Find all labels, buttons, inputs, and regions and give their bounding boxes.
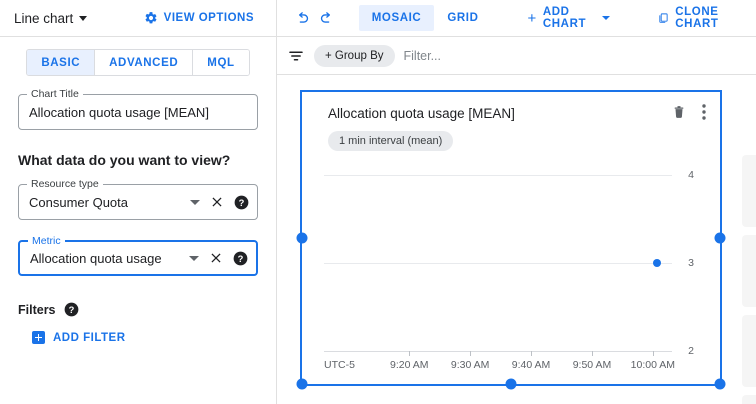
tab-advanced-label: ADVANCED [109, 57, 178, 69]
y-tick-2: 2 [688, 345, 694, 357]
tab-basic-label: BASIC [41, 57, 80, 69]
layout-mode-toggle: MOSAIC GRID [359, 5, 492, 31]
trash-icon[interactable] [672, 104, 686, 120]
x-tickmark-4 [653, 351, 654, 356]
chart-config-panel: Line chart VIEW OPTIONS BASIC ADVANCED [0, 0, 277, 404]
add-icon [32, 331, 45, 344]
tab-mql[interactable]: MQL [193, 50, 248, 75]
offscreen-chart-card[interactable] [742, 315, 756, 387]
add-filter-label: ADD FILTER [53, 332, 126, 344]
x-tickmark-0 [409, 351, 410, 356]
redo-icon [318, 10, 335, 27]
clone-chart-button[interactable]: CLONE CHART [648, 4, 756, 32]
x-tick-label-1: 9:30 AM [451, 359, 490, 371]
add-chart-label: ADD CHART [543, 6, 595, 30]
svg-text:?: ? [68, 305, 74, 315]
kebab-menu-icon[interactable] [702, 104, 706, 120]
metric-field[interactable]: Metric Allocation quota usage ? [18, 240, 258, 276]
data-point [653, 259, 661, 267]
canvas-toolbar: MOSAIC GRID + ADD CHART CLONE CHART [277, 0, 756, 36]
y-tick-3: 3 [688, 257, 694, 269]
filters-heading: Filters [18, 303, 56, 317]
svg-text:?: ? [239, 197, 245, 207]
config-form: Chart Title Allocation quota usage [MEAN… [0, 94, 276, 344]
x-tick-timezone: UTC-5 [324, 359, 355, 371]
clone-chart-label: CLONE CHART [675, 6, 746, 30]
offscreen-chart-cards [742, 155, 756, 404]
x-tick-label-0: 9:20 AM [390, 359, 429, 371]
chart-card-header: Allocation quota usage [MEAN] [302, 92, 720, 121]
metric-clear-icon[interactable] [209, 251, 223, 265]
resource-type-label: Resource type [27, 178, 103, 190]
chart-canvas-panel: MOSAIC GRID + ADD CHART CLONE CHART [277, 0, 756, 404]
resource-type-field[interactable]: Resource type Consumer Quota ? [18, 184, 258, 220]
tab-advanced[interactable]: ADVANCED [95, 50, 193, 75]
add-chart-button[interactable]: + ADD CHART [517, 4, 620, 32]
filters-heading-row: Filters ? [18, 302, 258, 317]
metric-chevron-down-icon[interactable] [189, 256, 199, 261]
offscreen-chart-card[interactable] [742, 395, 756, 404]
tab-basic[interactable]: BASIC [27, 50, 95, 75]
resource-type-value: Consumer Quota [29, 195, 186, 210]
filter-input[interactable]: Filter... [404, 49, 442, 63]
resize-handle-bottom-left[interactable] [297, 379, 308, 390]
chart-title-label: Chart Title [27, 88, 83, 100]
group-by-label: + Group By [325, 50, 384, 62]
resize-handle-bottom-right[interactable] [715, 379, 726, 390]
chart-canvas: Allocation quota usage [MEAN] [277, 75, 756, 401]
x-tickmark-2 [531, 351, 532, 356]
chevron-down-icon [79, 16, 87, 21]
undo-button[interactable] [291, 3, 315, 33]
x-tick-label-3: 9:50 AM [573, 359, 612, 371]
filter-list-icon[interactable] [287, 47, 305, 65]
interval-chip: 1 min interval (mean) [328, 131, 453, 151]
resize-handle-bottom[interactable] [506, 379, 517, 390]
layout-mode-grid-label: GRID [447, 12, 478, 24]
filter-bar: + Group By Filter... [277, 37, 756, 74]
resource-type-clear-icon[interactable] [210, 195, 224, 209]
metric-label: Metric [28, 235, 65, 247]
resource-type-help-icon[interactable]: ? [234, 195, 249, 210]
redo-button[interactable] [315, 3, 339, 33]
metric-value: Allocation quota usage [30, 251, 185, 266]
data-question-heading: What data do you want to view? [18, 152, 258, 168]
x-tickmark-3 [592, 351, 593, 356]
plus-icon: + [527, 11, 536, 26]
chart-type-dropdown[interactable]: Line chart [14, 11, 87, 26]
chart-card[interactable]: Allocation quota usage [MEAN] [300, 90, 722, 386]
x-tickmark-1 [470, 351, 471, 356]
chart-card-actions [672, 104, 706, 120]
chart-title-field[interactable]: Chart Title Allocation quota usage [MEAN… [18, 94, 258, 130]
clone-icon [658, 11, 669, 25]
config-tabs: BASIC ADVANCED MQL [0, 37, 276, 76]
x-tick-label-4: 10:00 AM [631, 359, 675, 371]
left-panel-header: Line chart VIEW OPTIONS [0, 0, 276, 36]
undo-icon [294, 10, 311, 27]
x-tick-label-2: 9:40 AM [512, 359, 551, 371]
svg-text:?: ? [238, 253, 244, 263]
resource-type-chevron-down-icon[interactable] [190, 200, 200, 205]
chart-plot-area: 4 3 2 UTC-5 [302, 165, 720, 381]
resize-handle-left[interactable] [297, 233, 308, 244]
gridline-4 [324, 175, 672, 176]
offscreen-chart-card[interactable] [742, 155, 756, 227]
chart-card-title: Allocation quota usage [MEAN] [328, 106, 704, 121]
view-options-button[interactable]: VIEW OPTIONS [144, 11, 262, 25]
chart-editor-app: Line chart VIEW OPTIONS BASIC ADVANCED [0, 0, 756, 404]
group-by-chip[interactable]: + Group By [314, 45, 395, 67]
layout-mode-mosaic[interactable]: MOSAIC [359, 5, 435, 31]
gridline-3 [324, 263, 672, 264]
chart-type-label: Line chart [14, 11, 73, 26]
x-axis-line [324, 351, 672, 352]
metric-help-icon[interactable]: ? [233, 251, 248, 266]
view-options-label: VIEW OPTIONS [164, 12, 254, 24]
offscreen-chart-card[interactable] [742, 235, 756, 307]
chart-title-value: Allocation quota usage [MEAN] [29, 105, 249, 120]
gear-icon [144, 11, 158, 25]
y-tick-4: 4 [688, 169, 694, 181]
tab-mql-label: MQL [207, 57, 234, 69]
resize-handle-right[interactable] [715, 233, 726, 244]
layout-mode-grid[interactable]: GRID [434, 5, 491, 31]
add-chart-chevron-down-icon [602, 16, 610, 20]
filters-help-icon[interactable]: ? [64, 302, 79, 317]
add-filter-button[interactable]: ADD FILTER [32, 331, 258, 344]
layout-mode-mosaic-label: MOSAIC [372, 12, 422, 24]
